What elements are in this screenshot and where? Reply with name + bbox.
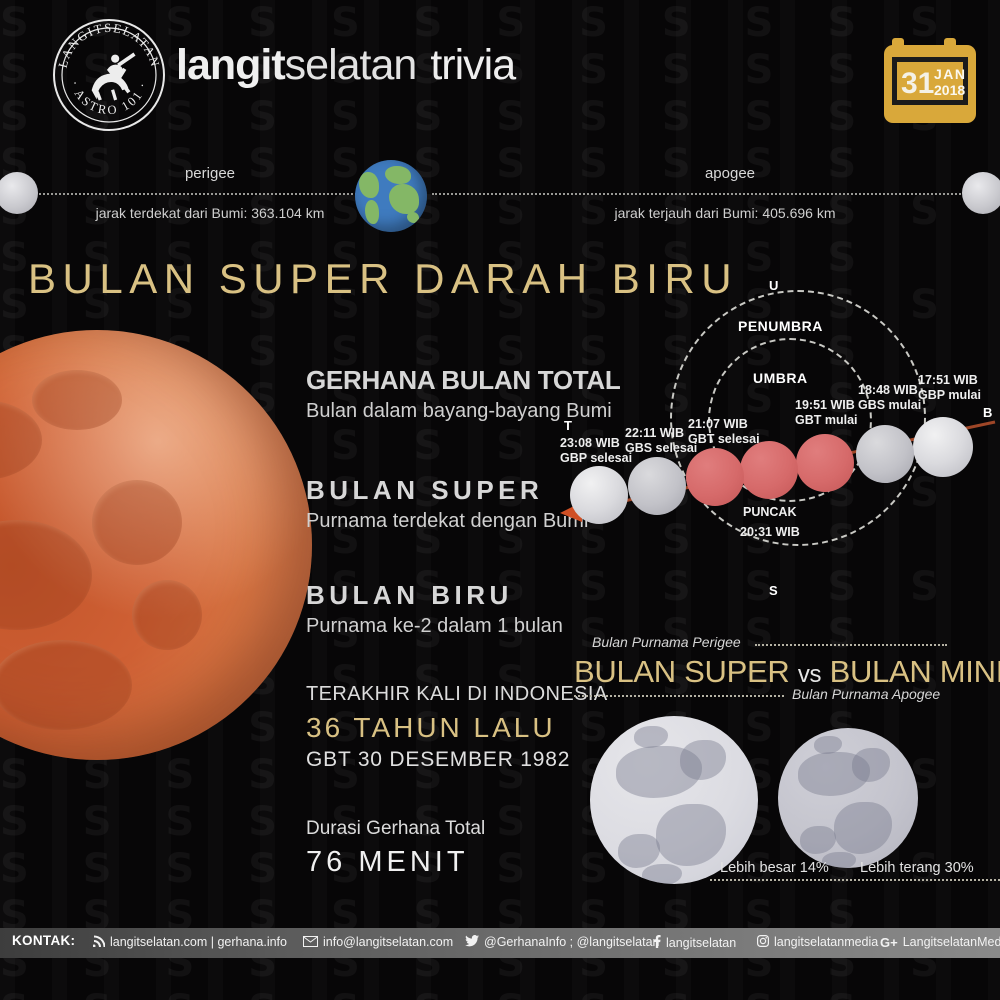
- duration-label: Durasi Gerhana Total: [306, 818, 485, 840]
- supermoon-disc: [590, 716, 758, 884]
- moon-phase-gbp-selesai: [570, 466, 628, 524]
- compare-dash-bottom: [574, 695, 784, 697]
- phase-label-gbt-mulai: 19:51 WIB GBT mulai: [795, 398, 858, 428]
- peak-time: 20:31 WIB: [740, 525, 800, 540]
- compare-top-caption: Bulan Purnama Perigee: [592, 634, 741, 650]
- phase-label-gbs-selesai: 22:11 WIB GBS selesai: [625, 426, 697, 456]
- phase-time: 17:51 WIB: [918, 373, 978, 387]
- contact-email-text: info@langitselatan.com: [323, 935, 453, 949]
- calendar-month: JAN: [934, 66, 967, 82]
- blood-moon-image: [0, 330, 312, 760]
- contact-website-text: langitselatan.com | gerhana.info: [110, 935, 287, 949]
- compare-title-left: BULAN SUPER: [574, 654, 790, 689]
- phase-event: GBS mulai: [858, 398, 921, 412]
- envelope-icon: [303, 936, 318, 950]
- stat-brighter: Lebih terang 30%: [860, 860, 974, 876]
- infographic-canvas: S S S S S S S S S S S S S S S S S S S S …: [0, 0, 1000, 1000]
- phase-event: GBP mulai: [918, 388, 981, 402]
- contact-facebook-text: langitselatan: [666, 936, 736, 950]
- langitselatan-logo: LANGITSELATAN · ASTRO 101 ·: [50, 16, 168, 134]
- contact-twitter[interactable]: @GerhanaInfo ; @langitselatan: [465, 935, 659, 950]
- contact-email[interactable]: info@langitselatan.com: [303, 935, 453, 950]
- phase-event: GBS selesai: [625, 441, 697, 455]
- orbit-line-right: [432, 193, 972, 195]
- compare-dash-stats: [710, 879, 1000, 881]
- instagram-icon: [757, 935, 769, 950]
- earth-icon: [355, 160, 427, 232]
- phase-time: 23:08 WIB: [560, 436, 620, 450]
- rss-icon: [93, 935, 105, 950]
- brand-suffix: trivia: [430, 41, 515, 89]
- fact-heading: BULAN BIRU: [306, 580, 563, 611]
- moon-phase-gbt-selesai: [686, 448, 744, 506]
- phase-time: 21:07 WIB: [688, 417, 748, 431]
- calendar-day: 31: [901, 67, 934, 100]
- moon-phase-gbp-mulai: [913, 417, 973, 477]
- apogee-distance: jarak terjauh dari Bumi: 405.696 km: [545, 205, 905, 221]
- fact-bluemoon: BULAN BIRU Purnama ke-2 dalam 1 bulan: [306, 580, 563, 638]
- contact-website[interactable]: langitselatan.com | gerhana.info: [93, 935, 287, 950]
- facebook-icon: [653, 935, 661, 951]
- phase-event: GBT selesai: [688, 432, 760, 446]
- contact-instagram-text: langitselatanmedia: [774, 935, 878, 949]
- orbit-line-left: [28, 193, 376, 195]
- compare-dash-top: [755, 644, 947, 646]
- compare-bottom-caption: Bulan Purnama Apogee: [792, 686, 940, 702]
- phase-time: 22:11 WIB: [625, 426, 684, 440]
- phase-label-gbt-selesai: 21:07 WIB GBT selesai: [688, 417, 760, 447]
- perigee-distance: jarak terdekat dari Bumi: 363.104 km: [30, 205, 390, 221]
- compare-title-right: BULAN MINI: [830, 654, 1000, 689]
- phase-event: GBT mulai: [795, 413, 858, 427]
- eclipse-shadow-diagram: U S T B PENUMBRA UMBRA 23:08 WIB GBP sel…: [540, 270, 1000, 620]
- brand-light: selatan: [285, 41, 417, 89]
- contact-twitter-text: @GerhanaInfo ; @langitselatan: [484, 935, 659, 949]
- fact-sub: Purnama ke-2 dalam 1 bulan: [306, 615, 563, 638]
- phase-label-gbp-selesai: 23:08 WIB GBP selesai: [560, 436, 632, 466]
- stat-bigger: Lebih besar 14%: [720, 860, 829, 876]
- perigee-label: perigee: [60, 165, 360, 182]
- duration-value: 76 MENIT: [306, 846, 485, 879]
- apogee-moon-icon: [962, 172, 1000, 214]
- contact-label: KONTAK:: [12, 933, 75, 948]
- googleplus-icon: G+: [880, 935, 898, 950]
- moon-phase-puncak: [740, 441, 798, 499]
- phase-label-gbs-mulai: 18:48 WIB GBS mulai: [858, 383, 921, 413]
- moon-phase-gbs-selesai: [628, 457, 686, 515]
- phase-event: GBP selesai: [560, 451, 632, 465]
- brand-title: langitselatantrivia: [176, 41, 515, 90]
- phase-time: 18:48 WIB: [858, 383, 918, 397]
- moon-phase-gbs-mulai: [856, 425, 914, 483]
- contact-facebook[interactable]: langitselatan: [653, 935, 736, 951]
- phase-time: 19:51 WIB: [795, 398, 855, 412]
- minimoon-disc: [778, 728, 918, 868]
- compare-title: BULAN SUPER vs BULAN MINI: [574, 654, 1000, 690]
- contact-googleplus[interactable]: G+LangitselatanMedia: [880, 935, 1000, 950]
- contact-googleplus-text: LangitselatanMedia: [903, 935, 1000, 949]
- moon-phase-gbt-mulai: [796, 434, 854, 492]
- phase-label-gbp-mulai: 17:51 WIB GBP mulai: [918, 373, 981, 403]
- peak-label: PUNCAK: [743, 505, 796, 520]
- twitter-icon: [465, 935, 479, 950]
- apogee-label: apogee: [580, 165, 880, 182]
- supermoon-vs-minimoon: Bulan Purnama Perigee BULAN SUPER vs BUL…: [560, 632, 1000, 892]
- perigee-apogee-row: perigee jarak terdekat dari Bumi: 363.10…: [0, 155, 1000, 235]
- calendar-year: 2018: [934, 82, 965, 98]
- calendar-icon: 31 JAN 2018: [884, 35, 976, 127]
- contact-instagram[interactable]: langitselatanmedia: [757, 935, 878, 950]
- compare-title-vs: vs: [798, 661, 821, 688]
- duration-block: Durasi Gerhana Total 76 MENIT: [306, 818, 485, 879]
- brand-bold: langit: [176, 41, 285, 89]
- svg-text:LANGITSELATAN: LANGITSELATAN: [56, 21, 163, 69]
